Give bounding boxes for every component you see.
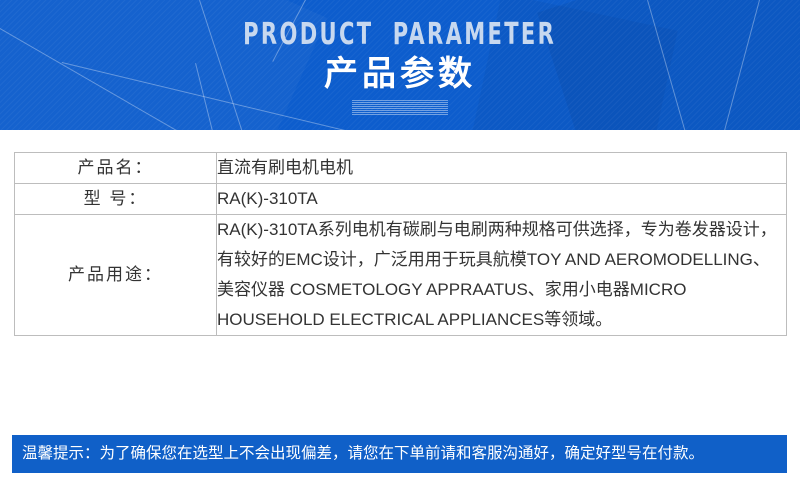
table-row: 产品名： 直流有刷电机电机 [15, 153, 787, 184]
warm-tip-notice-bar: 温馨提示：为了确保您在选型上不会出现偏差，请您在下单前请和客服沟通好，确定好型号… [12, 435, 787, 473]
row-label-product-name: 产品名： [15, 153, 217, 184]
row-label-model-number: 型 号： [15, 184, 217, 215]
striped-bar-decoration [352, 100, 448, 115]
product-parameter-page: PRODUCT PARAMETER 产品参数 产品名： 直流有刷电机电机 型 号… [0, 0, 800, 481]
table-row: 产品用途： RA(K)-310TA系列电机有碳刷与电刷两种规格可供选择，专为卷发… [15, 215, 787, 336]
row-value-model-number: RA(K)-310TA [217, 184, 787, 215]
table-row: 型 号： RA(K)-310TA [15, 184, 787, 215]
banner-title-chinese: 产品参数 [324, 54, 476, 94]
product-spec-table: 产品名： 直流有刷电机电机 型 号： RA(K)-310TA 产品用途： RA(… [14, 152, 787, 336]
row-label-product-usage: 产品用途： [15, 215, 217, 336]
header-banner: PRODUCT PARAMETER 产品参数 [0, 0, 800, 130]
row-value-product-name: 直流有刷电机电机 [217, 153, 787, 184]
banner-content: PRODUCT PARAMETER 产品参数 [0, 0, 800, 130]
banner-title-english: PRODUCT PARAMETER [243, 18, 556, 52]
row-value-product-usage: RA(K)-310TA系列电机有碳刷与电刷两种规格可供选择，专为卷发器设计，有较… [217, 215, 787, 336]
